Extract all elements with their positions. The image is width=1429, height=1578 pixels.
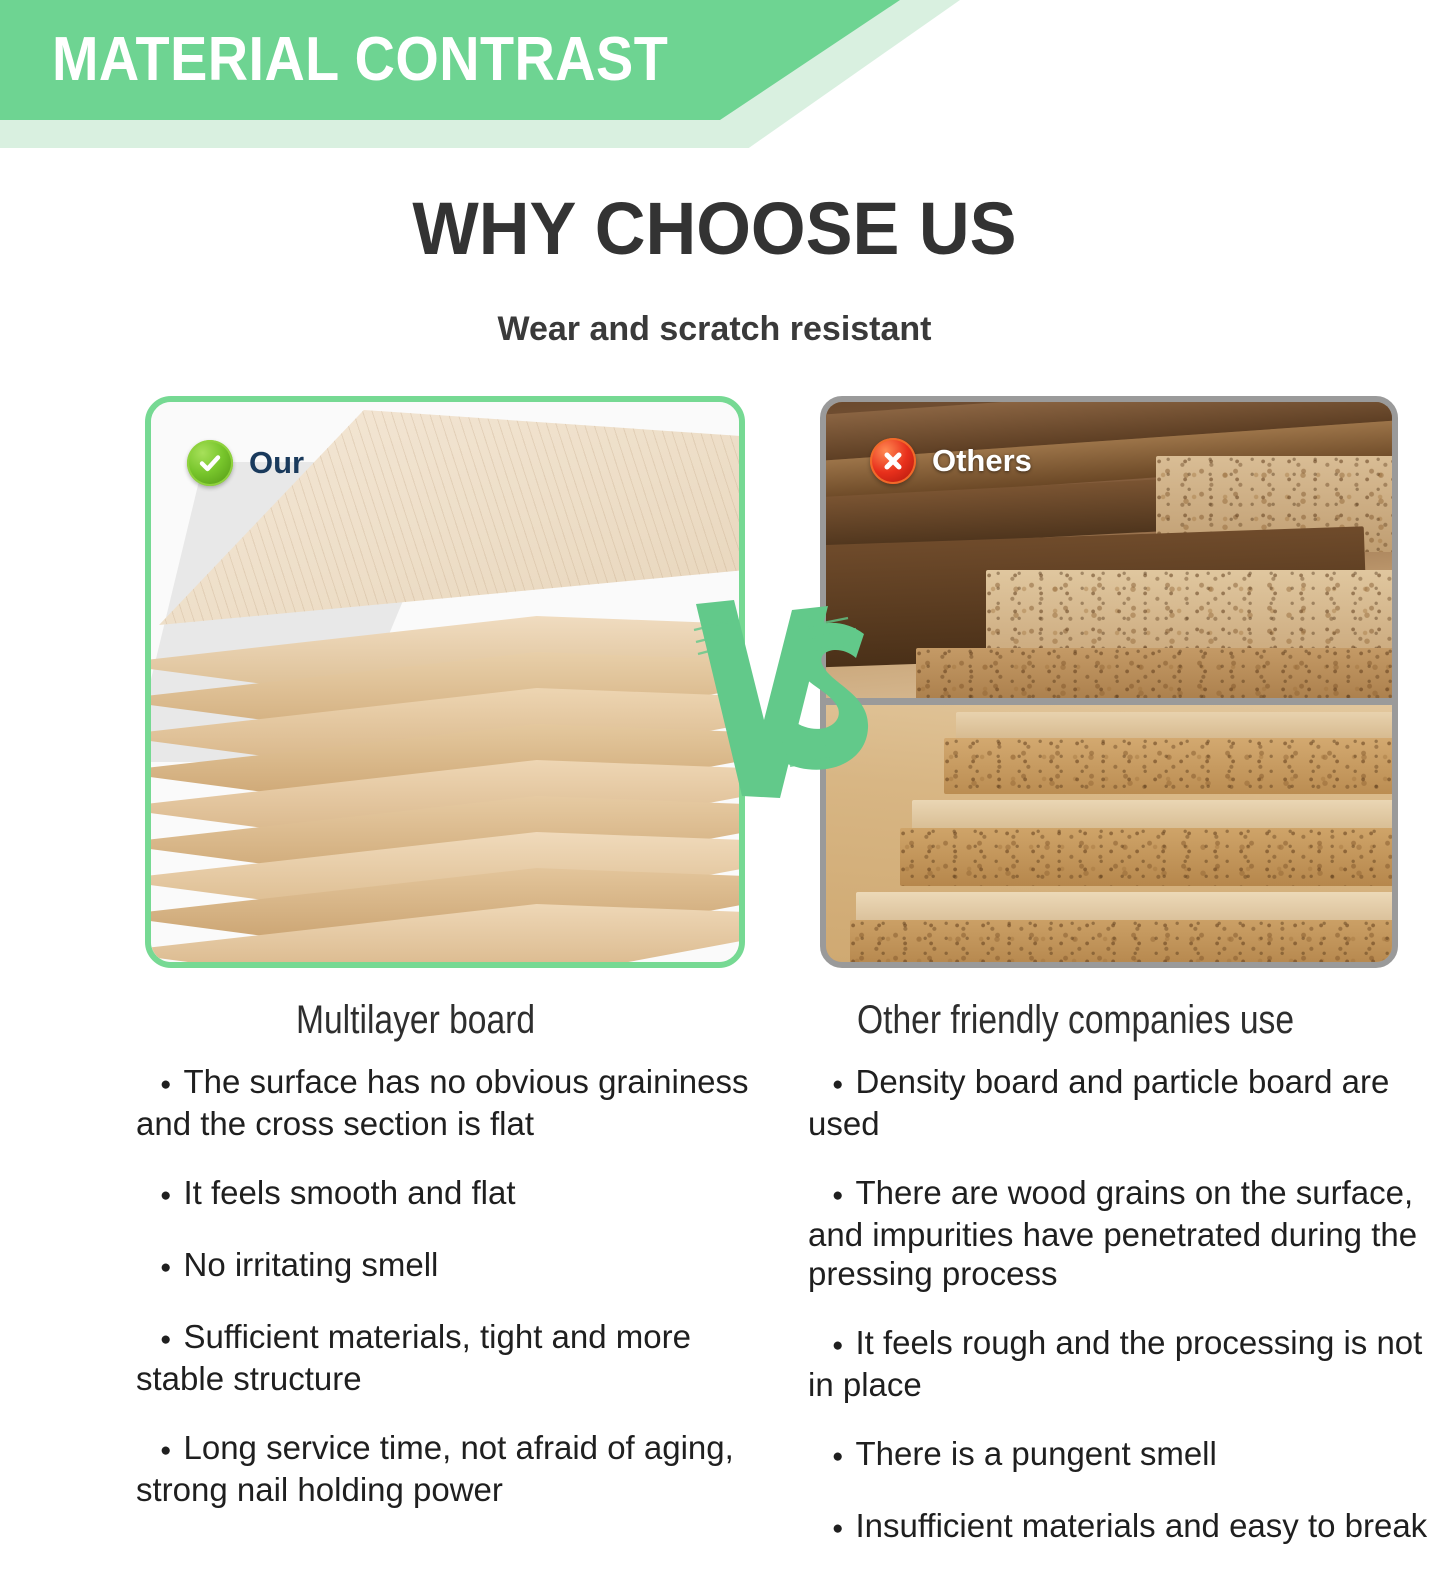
board-layer xyxy=(944,738,1392,794)
board-layer xyxy=(850,920,1392,962)
others-badge-label: Others xyxy=(932,443,1032,479)
list-item: Long service time, not afraid of aging, … xyxy=(136,1428,776,1509)
board-layer xyxy=(900,828,1392,886)
check-circle-icon xyxy=(187,440,233,486)
our-badge: Our xyxy=(187,440,304,486)
feature-list-others: Density board and particle board are use… xyxy=(808,1062,1429,1578)
panel-divider xyxy=(826,698,1392,705)
board-layer xyxy=(956,712,1392,740)
list-item: Sufficient materials, tight and more sta… xyxy=(136,1317,776,1398)
list-item: It feels smooth and flat xyxy=(136,1173,776,1215)
list-item: There is a pungent smell xyxy=(808,1434,1429,1476)
multilayer-board-image xyxy=(151,402,739,962)
our-badge-label: Our xyxy=(249,445,304,481)
caption-our: Multilayer board xyxy=(296,994,535,1046)
versus-icon xyxy=(688,592,874,802)
feature-list-our: The surface has no obvious graininess an… xyxy=(136,1062,776,1539)
particle-board-image xyxy=(826,704,1392,962)
comparison-panel-others: Others xyxy=(820,396,1398,968)
list-item: There are wood grains on the surface, an… xyxy=(808,1173,1429,1293)
list-item: No irritating smell xyxy=(136,1245,776,1287)
others-badge: Others xyxy=(870,438,1032,484)
banner-title: MATERIAL CONTRAST xyxy=(52,16,668,104)
board-layer xyxy=(912,800,1392,830)
list-item: Density board and particle board are use… xyxy=(808,1062,1429,1143)
x-circle-icon xyxy=(870,438,916,484)
board-layer xyxy=(916,648,1392,700)
caption-others: Other friendly companies use xyxy=(857,994,1294,1046)
page-title: WHY CHOOSE US xyxy=(36,186,1394,272)
page-subtitle: Wear and scratch resistant xyxy=(0,305,1429,353)
board-layer xyxy=(856,892,1392,922)
list-item: Insufficient materials and easy to break xyxy=(808,1506,1429,1548)
comparison-panel-our: Our xyxy=(145,396,745,968)
list-item: The surface has no obvious graininess an… xyxy=(136,1062,776,1143)
list-item: It feels rough and the processing is not… xyxy=(808,1323,1429,1404)
header-banner: MATERIAL CONTRAST xyxy=(0,0,980,152)
